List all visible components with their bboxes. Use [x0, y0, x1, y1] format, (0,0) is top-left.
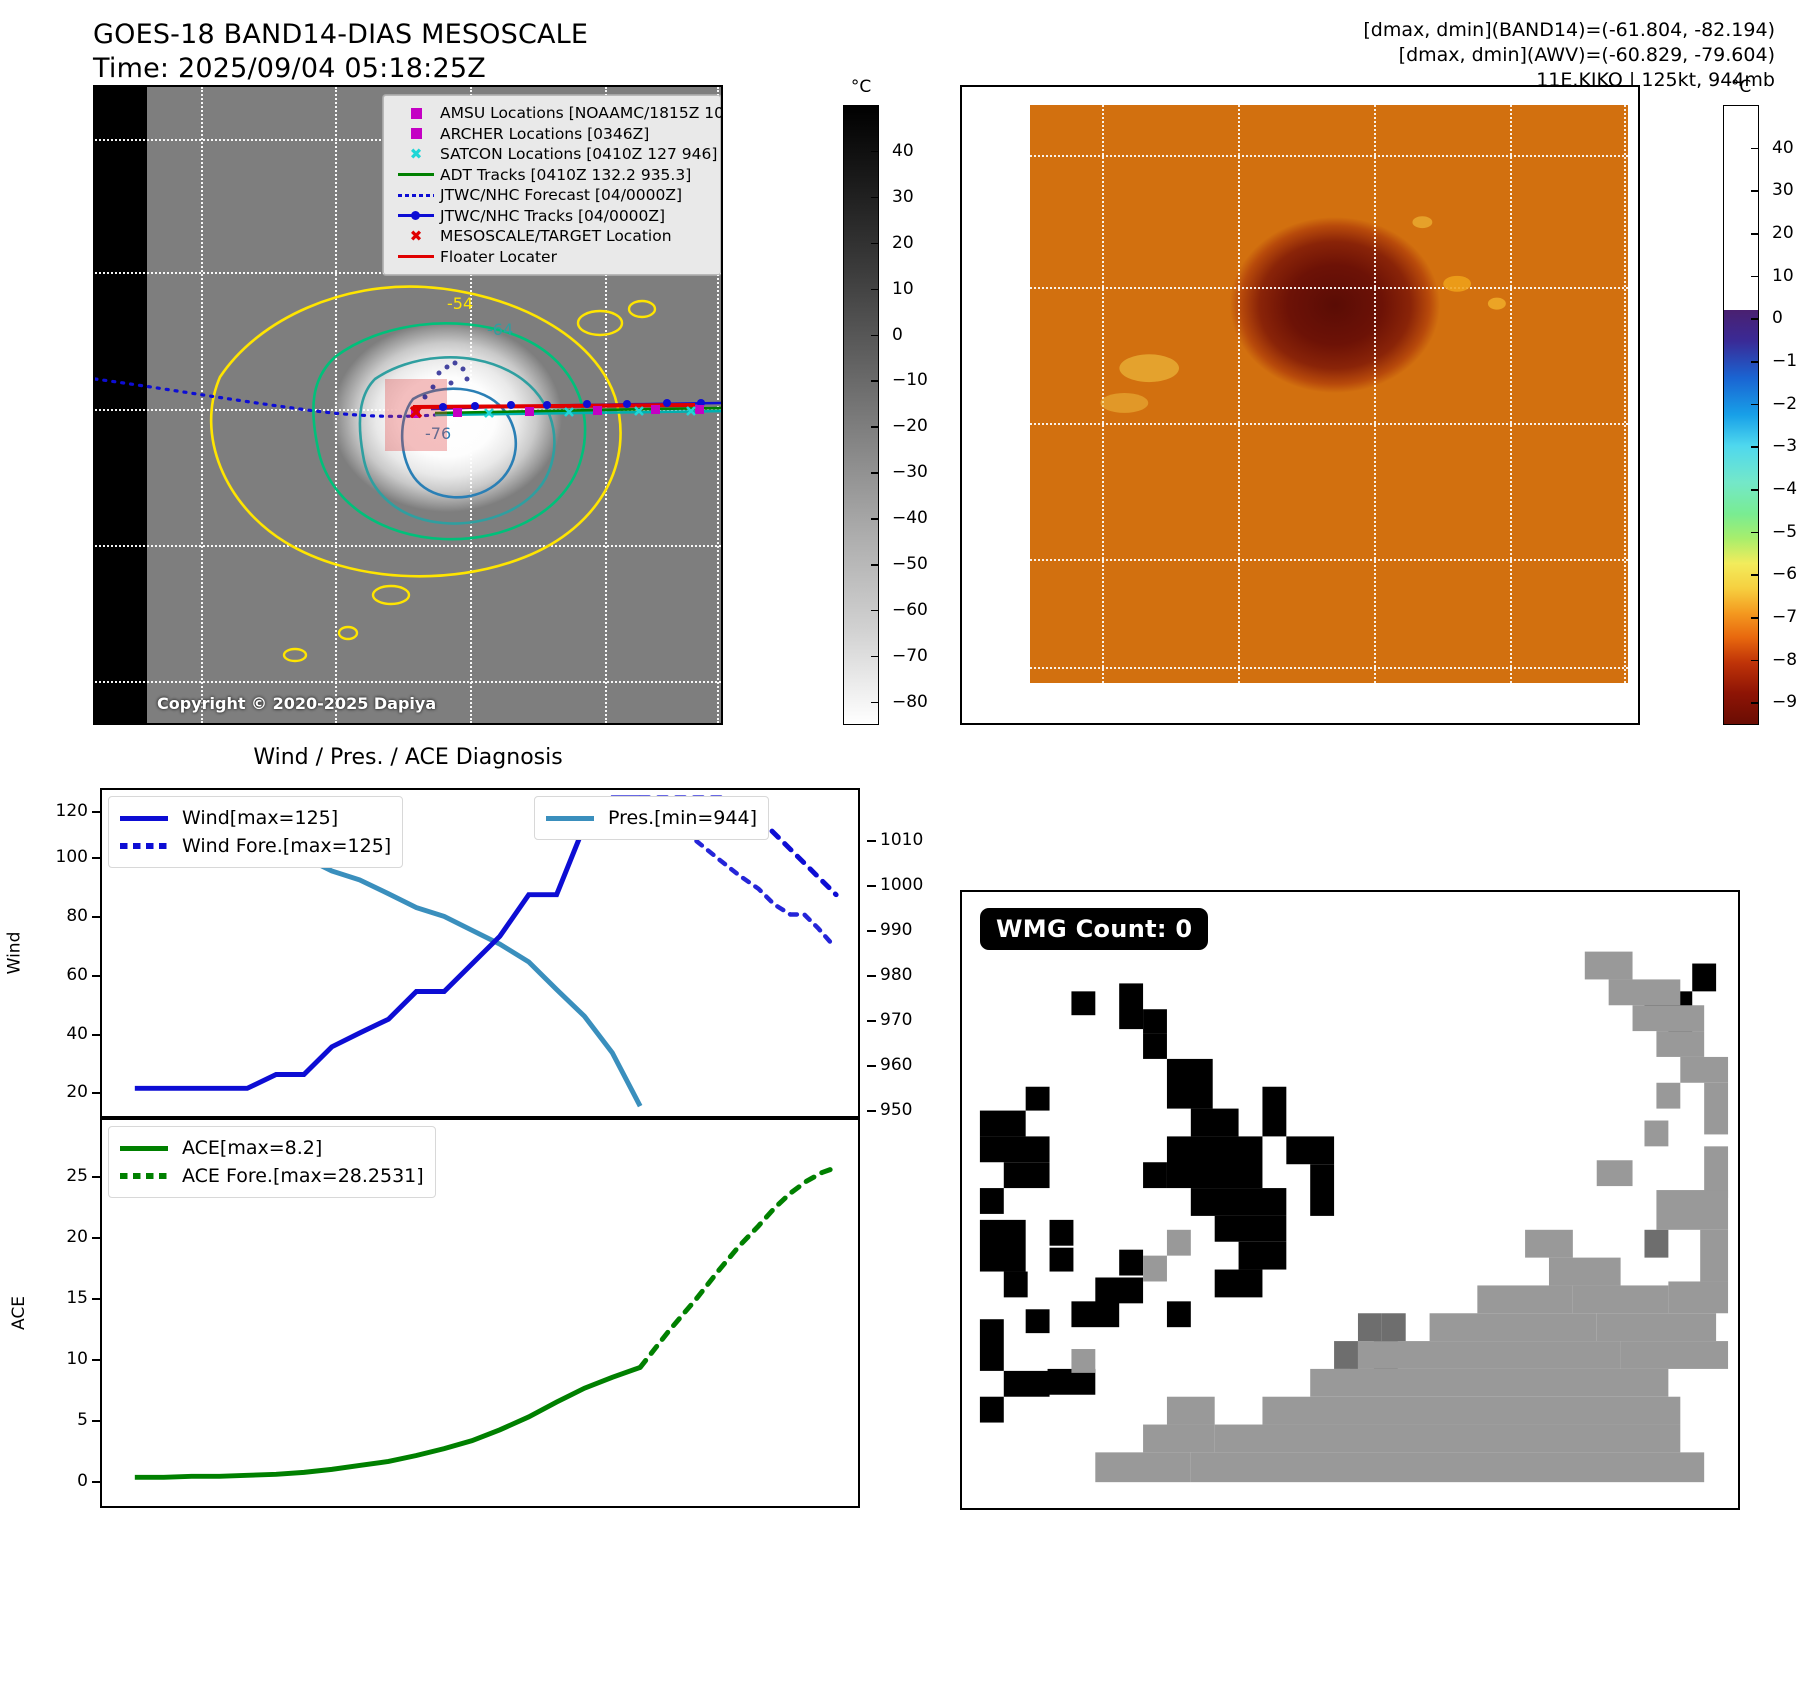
ace-ytick: 25	[66, 1166, 88, 1186]
pressure-ytick: 980	[880, 965, 912, 985]
legend-item-adt[interactable]: ADT Tracks [0410Z 132.2 935.3]	[392, 165, 712, 186]
awv-cb-tick: −70	[1759, 607, 1797, 627]
awv-cb-tick: −90	[1759, 692, 1797, 712]
awv-cb-tick: −10	[1759, 351, 1797, 371]
title-line-2: Time: 2025/09/04 05:18:25Z	[93, 52, 793, 86]
wind-pressure-chart[interactable]: Wind Pressure 20 40 60 80 100 120 950 96…	[100, 788, 860, 1118]
legend-label: AMSU Locations [NOAAMC/1815Z 104 973]	[440, 103, 723, 124]
awv-cb-tick: −80	[1759, 650, 1797, 670]
awv-image	[962, 87, 1638, 723]
legend-label: Wind Fore.[max=125]	[182, 832, 391, 860]
legend-item-mesoscale-target[interactable]: ✖ MESOSCALE/TARGET Location	[392, 226, 712, 247]
tracks-line-marker-icon	[392, 206, 440, 227]
legend-label: Floater Locater	[440, 247, 557, 268]
wmg-count-badge: WMG Count: 0	[980, 908, 1208, 950]
awv-cb-tick: −40	[1759, 479, 1797, 499]
wind-ytick: 20	[66, 1082, 88, 1102]
awv-cb-tick: 40	[1759, 138, 1794, 158]
awv-satellite-panel[interactable]: 18°N 16°N 14°N 12°N 10°N 136°W 134°W 132…	[960, 85, 1640, 725]
title-line-1: GOES-18 BAND14-DIAS MESOSCALE	[93, 18, 793, 52]
ir-cb-tick: 0	[879, 325, 903, 345]
ir-cb-tick: 40	[879, 141, 914, 161]
ir-cb-tick: 10	[879, 279, 914, 299]
page-title: GOES-18 BAND14-DIAS MESOSCALE Time: 2025…	[93, 18, 793, 86]
ir-cb-tick: −40	[879, 508, 928, 528]
stat-awv: [dmax, dmin](AWV)=(-60.829, -79.604)	[1363, 43, 1775, 68]
legend-label: ARCHER Locations [0346Z]	[440, 124, 649, 145]
ace-ytick: 5	[77, 1410, 88, 1430]
archer-square-icon	[392, 124, 440, 145]
pressure-line-icon	[546, 816, 608, 821]
legend-item-pressure[interactable]: Pres.[min=944]	[546, 804, 757, 832]
awv-cb-tick: 0	[1759, 308, 1783, 328]
header-statistics: [dmax, dmin](BAND14)=(-61.804, -82.194) …	[1363, 18, 1775, 93]
legend-item-satcon[interactable]: ✖ SATCON Locations [0410Z 127 946]	[392, 144, 712, 165]
ir-colorbar-unit: °C	[851, 77, 871, 97]
legend-item-wind[interactable]: Wind[max=125]	[120, 804, 391, 832]
legend-item-ace-forecast[interactable]: ACE Fore.[max=28.2531]	[120, 1162, 424, 1190]
ir-cb-tick: −70	[879, 646, 928, 666]
awv-cb-tick: 30	[1759, 180, 1794, 200]
ace-chart[interactable]: ACE 0 5 10 15 20 25 ACE[max=8.2] ACE For…	[100, 1118, 860, 1508]
awv-cb-tick: −20	[1759, 394, 1797, 414]
awv-cb-tick: −50	[1759, 522, 1797, 542]
series-ace-forecast	[640, 1168, 836, 1368]
floater-line-icon	[392, 247, 440, 268]
legend-label: ACE[max=8.2]	[182, 1134, 322, 1162]
wind-axis-title: Wind	[5, 932, 25, 975]
legend-label: SATCON Locations [0410Z 127 946]	[440, 144, 717, 165]
awv-colorbar-unit: °C	[1731, 77, 1751, 97]
legend-label: JTWC/NHC Tracks [04/0000Z]	[440, 206, 665, 227]
pressure-ytick: 1010	[880, 830, 923, 850]
pressure-legend: Pres.[min=944]	[534, 796, 769, 840]
legend-label: MESOSCALE/TARGET Location	[440, 226, 672, 247]
ace-ytick: 10	[66, 1349, 88, 1369]
awv-colorbar[interactable]: °C 40 30 20 10 0 −10 −20 −30 −40 −50 −60…	[1723, 105, 1759, 725]
amsu-square-icon	[392, 103, 440, 124]
ace-forecast-dotted-icon	[120, 1173, 182, 1179]
pressure-ytick: 950	[880, 1100, 912, 1120]
legend-label: Wind[max=125]	[182, 804, 338, 832]
ace-legend: ACE[max=8.2] ACE Fore.[max=28.2531]	[108, 1126, 436, 1198]
ir-colorbar[interactable]: °C 40 30 20 10 0 −10 −20 −30 −40 −50 −60…	[843, 105, 879, 725]
legend-item-amsu[interactable]: AMSU Locations [NOAAMC/1815Z 104 973]	[392, 103, 712, 124]
ir-image: -54 -64 -76	[95, 87, 721, 723]
wind-ytick: 60	[66, 965, 88, 985]
pressure-ytick: 1000	[880, 875, 923, 895]
ace-axis-title: ACE	[9, 1296, 29, 1330]
ir-cb-tick: 30	[879, 187, 914, 207]
pressure-ytick: 960	[880, 1055, 912, 1075]
ir-cb-tick: 20	[879, 233, 914, 253]
wind-ytick: 80	[66, 906, 88, 926]
legend-item-jtwc-forecast[interactable]: JTWC/NHC Forecast [04/0000Z]	[392, 185, 712, 206]
wind-ytick: 120	[56, 801, 88, 821]
awv-colorbar-gradient	[1723, 105, 1759, 725]
legend-label: Pres.[min=944]	[608, 804, 757, 832]
wind-line-icon	[120, 816, 182, 821]
legend-item-jtwc-tracks[interactable]: JTWC/NHC Tracks [04/0000Z]	[392, 206, 712, 227]
target-x-icon: ✖	[392, 226, 440, 247]
pressure-ytick: 990	[880, 920, 912, 940]
legend-item-archer[interactable]: ARCHER Locations [0346Z]	[392, 124, 712, 145]
satcon-x-icon: ✖	[392, 144, 440, 165]
forecast-dotted-line-icon	[392, 185, 440, 206]
awv-texture-overlay	[1030, 105, 1628, 683]
awv-cb-tick: 10	[1759, 266, 1794, 286]
ir-cb-tick: −60	[879, 600, 928, 620]
ace-ytick: 15	[66, 1288, 88, 1308]
legend-label: ADT Tracks [0410Z 132.2 935.3]	[440, 165, 691, 186]
wmg-cloud-mask	[962, 892, 1738, 1508]
ir-cb-tick: −20	[879, 416, 928, 436]
awv-cb-tick: 20	[1759, 223, 1794, 243]
wind-legend: Wind[max=125] Wind Fore.[max=125]	[108, 796, 403, 868]
wind-ytick: 40	[66, 1024, 88, 1044]
adt-line-icon	[392, 165, 440, 186]
copyright-notice: Copyright © 2020-2025 Dapiya	[157, 694, 436, 713]
wmg-panel[interactable]: WMG Count: 0	[960, 890, 1740, 1510]
wind-section-title: Wind / Pres. / ACE Diagnosis	[93, 745, 723, 770]
awv-cloud-field	[1030, 105, 1628, 683]
awv-cb-tick: −60	[1759, 564, 1797, 584]
legend-item-floater-locater[interactable]: Floater Locater	[392, 247, 712, 268]
awv-cb-tick: −30	[1759, 436, 1797, 456]
wmg-gray-cells	[1071, 952, 1728, 1483]
legend-item-wind-forecast[interactable]: Wind Fore.[max=125]	[120, 832, 391, 860]
series-ace	[135, 1367, 640, 1477]
ir-cb-tick: −80	[879, 692, 928, 712]
legend-label: JTWC/NHC Forecast [04/0000Z]	[440, 185, 682, 206]
ace-ytick: 0	[77, 1471, 88, 1491]
pressure-ytick: 970	[880, 1010, 912, 1030]
legend-item-ace[interactable]: ACE[max=8.2]	[120, 1134, 424, 1162]
ace-line-icon	[120, 1146, 182, 1151]
ace-ytick: 20	[66, 1227, 88, 1247]
wind-forecast-dotted-icon	[120, 843, 182, 849]
ir-cb-tick: −10	[879, 370, 928, 390]
wind-ytick: 100	[56, 847, 88, 867]
ir-satellite-panel[interactable]: -54 -64 -76	[93, 85, 723, 725]
legend-label: ACE Fore.[max=28.2531]	[182, 1162, 424, 1190]
ir-cb-tick: −30	[879, 462, 928, 482]
ir-cb-tick: −50	[879, 554, 928, 574]
stat-band14: [dmax, dmin](BAND14)=(-61.804, -82.194)	[1363, 18, 1775, 43]
ir-legend: AMSU Locations [NOAAMC/1815Z 104 973] AR…	[383, 95, 721, 275]
